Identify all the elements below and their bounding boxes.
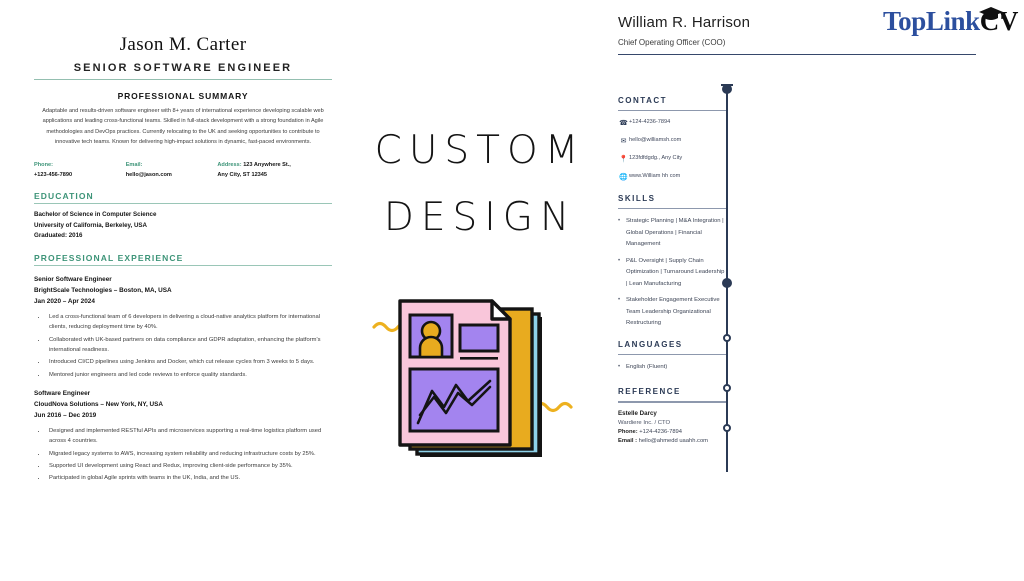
left-address-line1: Address: 123 Anywhere St., — [217, 161, 332, 171]
left-job-1-company: CloudNova Solutions – New York, NY, USA — [34, 399, 332, 410]
list-item: Led a cross-functional team of 6 develop… — [47, 312, 332, 333]
reference-email-value: hello@ahmedd uaahh.com — [639, 438, 708, 444]
bullet-dot-icon: • — [618, 295, 626, 330]
list-item: • P&L Oversight | Supply Chain Optimizat… — [618, 256, 726, 291]
left-education-divider — [34, 203, 332, 204]
left-job-1-dates: Jun 2016 – Dec 2019 — [34, 410, 332, 421]
skill-text: Strategic Planning | M&A Integration | G… — [626, 216, 726, 251]
contact-divider — [618, 110, 726, 111]
list-item: Designed and implemented RESTful APIs an… — [47, 426, 332, 447]
bullet-dot-icon: • — [618, 256, 626, 291]
left-phone-value: +123-456-7890 — [34, 171, 126, 181]
left-education-heading: EDUCATION — [34, 191, 332, 201]
bullet-dot-icon: • — [618, 216, 626, 251]
list-item: Participated in global Agile sprints wit… — [47, 473, 332, 483]
logo-text-toplink: TopLink — [883, 6, 980, 36]
right-resume-document: William R. Harrison Chief Operating Offi… — [610, 0, 1024, 577]
list-item: • Strategic Planning | M&A Integration |… — [618, 216, 726, 251]
graduation-cap-icon — [978, 6, 1004, 22]
bullet-dot-icon: • — [618, 362, 626, 374]
left-address-value-1: 123 Anywhere St., — [243, 162, 291, 168]
reference-heading: REFERENCE — [618, 387, 726, 396]
left-education-graduated: Graduated: 2016 — [34, 231, 332, 242]
language-text: English (Fluent) — [626, 362, 667, 374]
left-summary-heading: PROFESSIONAL SUMMARY — [34, 91, 332, 101]
left-job-1: Software Engineer CloudNova Solutions – … — [34, 388, 332, 484]
document-stack-illustration — [372, 285, 587, 465]
contact-phone-text: +124-4236-7894 — [629, 118, 670, 126]
left-education-degree: Bachelor of Science in Computer Science — [34, 210, 332, 221]
toplinkcv-logo[interactable]: TopLinkCV — [883, 8, 1018, 35]
left-job-0-header: Senior Software Engineer BrightScale Tec… — [34, 274, 332, 307]
left-job-0-title: Senior Software Engineer — [34, 274, 332, 285]
skills-heading: SKILLS — [618, 194, 726, 203]
list-item: Mentored junior engineers and led code r… — [47, 370, 332, 380]
left-contact-row: Phone: +123-456-7890 Email: hello@jason.… — [34, 161, 332, 181]
left-job-0: Senior Software Engineer BrightScale Tec… — [34, 274, 332, 380]
skill-text: Stakeholder Engagement Executive Team Le… — [626, 295, 726, 330]
list-item: Migrated legacy systems to AWS, increasi… — [47, 449, 332, 459]
left-candidate-role: SENIOR SOFTWARE ENGINEER — [34, 62, 332, 74]
contact-item-phone: ☎ +124-4236-7894 — [618, 118, 726, 128]
left-job-0-company: BrightScale Technologies – Boston, MA, U… — [34, 285, 332, 296]
list-item: Supported UI development using React and… — [47, 461, 332, 471]
left-job-0-bullets: Led a cross-functional team of 6 develop… — [34, 312, 332, 380]
reference-name: Estelle Darcy — [618, 410, 726, 417]
skill-text: P&L Oversight | Supply Chain Optimizatio… — [626, 256, 726, 291]
left-email-label: Email: — [126, 161, 218, 171]
left-experience-heading: PROFESSIONAL EXPERIENCE — [34, 253, 332, 263]
contact-item-website: 🌐 www.William hh com — [618, 172, 726, 182]
left-education-entry: Bachelor of Science in Computer Science … — [34, 210, 332, 242]
center-promo-panel: CUSTOM DESIGN — [350, 0, 610, 577]
right-header: William R. Harrison Chief Operating Offi… — [610, 0, 1024, 55]
left-email-value: hello@jason.com — [126, 171, 218, 181]
left-job-1-bullets: Designed and implemented RESTful APIs an… — [34, 426, 332, 484]
reference-phone: Phone: +124-4236-7894 — [618, 429, 726, 435]
reference-phone-value: +124-4236-7894 — [639, 429, 682, 435]
left-experience-divider — [34, 265, 332, 266]
contact-item-email: ✉ hello@williamsh.com — [618, 136, 726, 146]
reference-divider — [618, 401, 726, 402]
envelope-icon: ✉ — [618, 136, 629, 146]
phone-icon: ☎ — [618, 118, 629, 128]
list-item: Collaborated with UK-based partners on d… — [47, 335, 332, 356]
custom-word: CUSTOM — [350, 128, 610, 173]
left-job-1-title: Software Engineer — [34, 388, 332, 399]
list-item: • Stakeholder Engagement Executive Team … — [618, 295, 726, 330]
left-summary-body: Adaptable and results-driven software en… — [34, 106, 332, 147]
right-candidate-title: Chief Operating Officer (COO) — [618, 38, 1010, 47]
list-item: • English (Fluent) — [618, 362, 726, 374]
reference-phone-label: Phone: — [618, 429, 638, 435]
languages-heading: LANGUAGES — [618, 340, 726, 349]
contact-email-text: hello@williamsh.com — [629, 136, 681, 144]
left-address-value-2: Any City, ST 12345 — [217, 171, 332, 181]
left-contact-email: Email: hello@jason.com — [126, 161, 218, 181]
left-job-0-dates: Jan 2020 – Apr 2024 — [34, 296, 332, 307]
left-education-school: University of California, Berkeley, USA — [34, 221, 332, 232]
left-contact-address: Address: 123 Anywhere St., Any City, ST … — [217, 161, 332, 181]
globe-icon: 🌐 — [618, 172, 629, 182]
left-contact-phone: Phone: +123-456-7890 — [34, 161, 126, 181]
right-sidebar: CONTACT ☎ +124-4236-7894 ✉ hello@william… — [618, 96, 726, 444]
reference-role: Wardiere Inc. / CTO — [618, 420, 726, 426]
contact-heading: CONTACT — [618, 96, 726, 105]
languages-divider — [618, 354, 726, 355]
list-item: Introduced CI/CD pipelines using Jenkins… — [47, 357, 332, 367]
left-phone-label: Phone: — [34, 161, 126, 171]
location-pin-icon: 📍 — [618, 154, 629, 164]
skills-divider — [618, 208, 726, 209]
left-address-label: Address: — [217, 162, 241, 168]
reference-email-label: Email : — [618, 438, 637, 444]
left-job-1-header: Software Engineer CloudNova Solutions – … — [34, 388, 332, 421]
contact-address-text: 123fdfdgdg., Any City — [629, 154, 682, 162]
contact-item-address: 📍 123fdfdgdg., Any City — [618, 154, 726, 164]
design-word: DESIGN — [350, 195, 610, 240]
contact-website-text: www.William hh com — [629, 172, 680, 180]
right-header-divider — [618, 54, 976, 55]
left-candidate-name: Jason M. Carter — [34, 34, 332, 56]
left-resume-document: Jason M. Carter SENIOR SOFTWARE ENGINEER… — [0, 0, 360, 577]
reference-email: Email : hello@ahmedd uaahh.com — [618, 438, 726, 444]
left-header-divider — [34, 79, 332, 80]
